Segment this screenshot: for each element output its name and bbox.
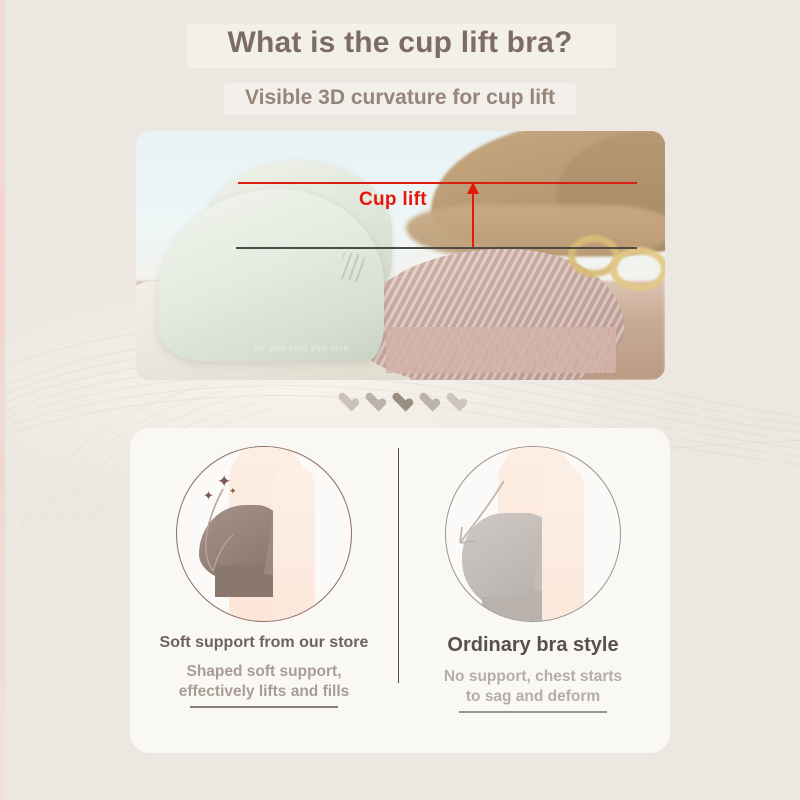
product-photo: for you said you love Cup lift (136, 131, 665, 380)
comparison-panel-ordinary: Ordinary bra style No support, chest sta… (399, 446, 667, 713)
comparison-panel-ours: ✦ ✦ ✦ Soft support from our store Shaped… (130, 446, 398, 708)
panel-title-ours: Soft support from our store (130, 634, 398, 652)
panel-subtitle-ours-line2: effectively lifts and fills (130, 682, 398, 702)
illustration-circle-right (445, 446, 621, 622)
measure-line-bottom (236, 247, 637, 249)
heart-icon-3 (392, 392, 408, 408)
photo-lace-trim (386, 327, 616, 373)
lift-curve-icon (177, 447, 352, 622)
lifted-bust-illustration: ✦ ✦ ✦ (176, 446, 352, 622)
heart-icon-1 (338, 392, 354, 408)
panel-title-ordinary: Ordinary bra style (399, 634, 667, 657)
heart-icon-4 (419, 392, 435, 408)
up-arrow-icon (472, 183, 474, 247)
comparison-card: ✦ ✦ ✦ Soft support from our store Shaped… (130, 428, 670, 753)
panel-underline-ordinary (459, 711, 607, 713)
sparkle-icon-2: ✦ (203, 489, 214, 502)
panel-underline-ours (190, 706, 338, 708)
panel-subtitle-ordinary: No support, chest starts to sag and defo… (399, 667, 667, 707)
illustration-circle-left: ✦ ✦ ✦ (176, 446, 352, 622)
sagging-bust-illustration (445, 446, 621, 622)
page-title: What is the cup lift bra? (0, 26, 800, 60)
sparkle-icon-3: ✦ (229, 487, 237, 496)
photo-gold-ring-2 (610, 247, 665, 291)
down-arrow-icon (446, 447, 621, 622)
page-subtitle: Visible 3D curvature for cup lift (0, 86, 800, 110)
panel-subtitle-ordinary-line1: No support, chest starts (399, 667, 667, 687)
heart-icon-2 (365, 392, 381, 408)
heart-decoration-row (0, 392, 800, 408)
cup-lift-annotation: Cup lift (359, 189, 427, 211)
heart-icon-5 (446, 392, 462, 408)
measure-line-top (238, 182, 637, 184)
photo-watermark: for you said you love (254, 343, 349, 353)
panel-subtitle-ours: Shaped soft support, effectively lifts a… (130, 662, 398, 702)
panel-subtitle-ordinary-line2: to sag and deform (399, 687, 667, 707)
panel-subtitle-ours-line1: Shaped soft support, (130, 662, 398, 682)
